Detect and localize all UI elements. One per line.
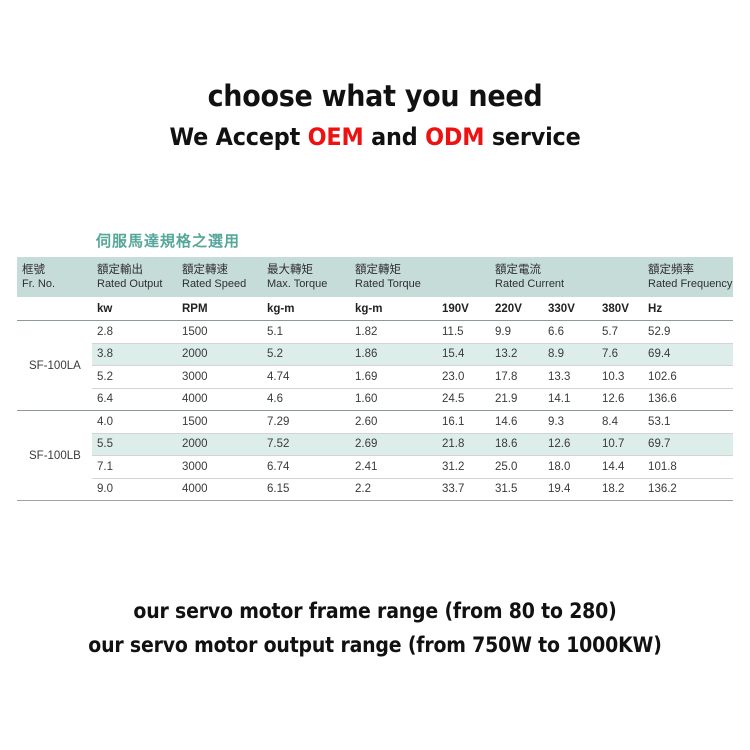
cell-rated-torque: 2.2 <box>350 478 437 501</box>
headline-accept-text: We Accept <box>169 123 307 151</box>
column-header-en: Rated Speed <box>182 277 262 292</box>
cell-current-220v: 17.8 <box>490 366 543 389</box>
cell-rated-output: 3.8 <box>92 343 177 366</box>
cell-current-380v: 10.3 <box>597 366 643 389</box>
cell-current-380v: 18.2 <box>597 478 643 501</box>
cell-current-190v: 31.2 <box>437 456 490 479</box>
cell-rated-torque: 2.69 <box>350 433 437 456</box>
footer-block: our servo motor frame range (from 80 to … <box>0 594 750 662</box>
column-header-1: 框號Fr. No. <box>17 257 92 297</box>
cell-rated-torque: 1.82 <box>350 321 437 344</box>
column-header-cn: 額定電流 <box>495 262 643 278</box>
headline-oem: OEM <box>308 123 364 151</box>
cell-current-220v: 25.0 <box>490 456 543 479</box>
cell-frequency: 136.6 <box>643 388 733 411</box>
cell-current-330v: 9.3 <box>543 411 597 434</box>
unit-rated-output: kw <box>92 297 177 321</box>
cell-current-330v: 19.4 <box>543 478 597 501</box>
cell-current-330v: 6.6 <box>543 321 597 344</box>
cell-frequency: 52.9 <box>643 321 733 344</box>
table-row: 6.440004.61.6024.521.914.112.6136.6 <box>17 388 733 411</box>
cell-rated-output: 7.1 <box>92 456 177 479</box>
column-header-en: Rated Frequency <box>648 277 733 292</box>
cell-rated-output: 2.8 <box>92 321 177 344</box>
cell-rated-speed: 1500 <box>177 411 262 434</box>
column-header-cn: 額定頻率 <box>648 262 733 278</box>
column-header-cn: 額定轉速 <box>182 262 262 278</box>
cell-current-220v: 9.9 <box>490 321 543 344</box>
cell-frequency: 69.4 <box>643 343 733 366</box>
cell-frequency: 136.2 <box>643 478 733 501</box>
cell-current-190v: 16.1 <box>437 411 490 434</box>
column-header-en: Rated Torque <box>355 277 490 292</box>
cell-current-220v: 13.2 <box>490 343 543 366</box>
footer-output-range: our servo motor output range (from 750W … <box>38 628 713 662</box>
column-header-4: 最大轉矩Max. Torque <box>262 257 350 297</box>
cell-current-190v: 24.5 <box>437 388 490 411</box>
unit-current-330v: 330V <box>543 297 597 321</box>
unit-rated-speed: RPM <box>177 297 262 321</box>
cell-rated-torque: 1.60 <box>350 388 437 411</box>
column-header-en: Max. Torque <box>267 277 350 292</box>
cell-current-380v: 7.6 <box>597 343 643 366</box>
cell-current-380v: 8.4 <box>597 411 643 434</box>
cell-max-torque: 5.1 <box>262 321 350 344</box>
unit-rated-torque: kg-m <box>350 297 437 321</box>
cell-current-380v: 12.6 <box>597 388 643 411</box>
cell-frequency: 53.1 <box>643 411 733 434</box>
spec-table-title: 伺服馬達規格之選用 <box>96 230 240 251</box>
cell-max-torque: 7.52 <box>262 433 350 456</box>
spec-table-container: 框號Fr. No.額定輸出Rated Output額定轉速Rated Speed… <box>17 257 733 501</box>
cell-frame-number: SF-100LA <box>17 321 92 411</box>
cell-rated-output: 6.4 <box>92 388 177 411</box>
cell-rated-output: 5.2 <box>92 366 177 389</box>
column-header-2: 額定輸出Rated Output <box>92 257 177 297</box>
column-header-cn: 框號 <box>22 262 92 278</box>
cell-rated-speed: 4000 <box>177 478 262 501</box>
cell-current-380v: 10.7 <box>597 433 643 456</box>
footer-frame-range: our servo motor frame range (from 80 to … <box>38 594 713 628</box>
table-row: 5.520007.522.6921.818.612.610.769.7 <box>17 433 733 456</box>
cell-rated-torque: 2.60 <box>350 411 437 434</box>
cell-current-220v: 14.6 <box>490 411 543 434</box>
headline-primary: choose what you need <box>26 78 724 114</box>
cell-max-torque: 5.2 <box>262 343 350 366</box>
cell-current-330v: 8.9 <box>543 343 597 366</box>
cell-current-190v: 15.4 <box>437 343 490 366</box>
unit-current-190v: 190V <box>437 297 490 321</box>
table-row: SF-100LB4.015007.292.6016.114.69.38.453.… <box>17 411 733 434</box>
column-header-cn: 最大轉矩 <box>267 262 350 278</box>
cell-rated-speed: 2000 <box>177 343 262 366</box>
cell-current-190v: 11.5 <box>437 321 490 344</box>
cell-rated-speed: 1500 <box>177 321 262 344</box>
headline-service-text: service <box>484 123 580 151</box>
cell-rated-speed: 2000 <box>177 433 262 456</box>
cell-frequency: 69.7 <box>643 433 733 456</box>
cell-current-380v: 5.7 <box>597 321 643 344</box>
cell-rated-speed: 4000 <box>177 388 262 411</box>
table-row: 5.230004.741.6923.017.813.310.3102.6 <box>17 366 733 389</box>
column-header-en: Fr. No. <box>22 277 92 292</box>
cell-current-190v: 23.0 <box>437 366 490 389</box>
cell-current-330v: 12.6 <box>543 433 597 456</box>
column-header-en: Rated Output <box>97 277 177 292</box>
cell-max-torque: 6.15 <box>262 478 350 501</box>
unit-current-220v: 220V <box>490 297 543 321</box>
table-header-row: 框號Fr. No.額定輸出Rated Output額定轉速Rated Speed… <box>17 257 733 297</box>
cell-rated-torque: 1.86 <box>350 343 437 366</box>
headline-block: choose what you need We Accept OEM and O… <box>0 78 750 153</box>
cell-rated-torque: 2.41 <box>350 456 437 479</box>
cell-frequency: 101.8 <box>643 456 733 479</box>
cell-max-torque: 7.29 <box>262 411 350 434</box>
watermark <box>695 22 735 44</box>
unit-current-380v: 380V <box>597 297 643 321</box>
headline-odm: ODM <box>425 123 484 151</box>
cell-rated-output: 9.0 <box>92 478 177 501</box>
unit-frequency: Hz <box>643 297 733 321</box>
cell-current-380v: 14.4 <box>597 456 643 479</box>
table-row: 7.130006.742.4131.225.018.014.4101.8 <box>17 456 733 479</box>
cell-current-220v: 18.6 <box>490 433 543 456</box>
cell-rated-torque: 1.69 <box>350 366 437 389</box>
cell-current-190v: 33.7 <box>437 478 490 501</box>
table-row: 9.040006.152.233.731.519.418.2136.2 <box>17 478 733 501</box>
headline-and-text: and <box>364 123 426 151</box>
cell-current-220v: 21.9 <box>490 388 543 411</box>
table-row: 3.820005.21.8615.413.28.97.669.4 <box>17 343 733 366</box>
table-row: SF-100LA2.815005.11.8211.59.96.65.752.9 <box>17 321 733 344</box>
column-header-cn: 額定輸出 <box>97 262 177 278</box>
column-header-5: 額定轉矩Rated Torque <box>350 257 490 297</box>
cell-current-330v: 14.1 <box>543 388 597 411</box>
cell-max-torque: 6.74 <box>262 456 350 479</box>
cell-max-torque: 4.6 <box>262 388 350 411</box>
cell-rated-output: 5.5 <box>92 433 177 456</box>
cell-current-190v: 21.8 <box>437 433 490 456</box>
column-header-6: 額定電流Rated Current <box>490 257 643 297</box>
cell-current-330v: 13.3 <box>543 366 597 389</box>
column-header-7: 額定頻率Rated Frequency <box>643 257 733 297</box>
cell-max-torque: 4.74 <box>262 366 350 389</box>
cell-current-330v: 18.0 <box>543 456 597 479</box>
table-units-row: kwRPMkg-mkg-m190V220V330V380VHz <box>17 297 733 321</box>
cell-rated-speed: 3000 <box>177 456 262 479</box>
cell-frequency: 102.6 <box>643 366 733 389</box>
unit-frame <box>17 297 92 321</box>
cell-frame-number: SF-100LB <box>17 411 92 501</box>
product-spec-page: choose what you need We Accept OEM and O… <box>0 0 750 750</box>
cell-rated-speed: 3000 <box>177 366 262 389</box>
cell-rated-output: 4.0 <box>92 411 177 434</box>
column-header-en: Rated Current <box>495 277 643 292</box>
column-header-cn: 額定轉矩 <box>355 262 490 278</box>
headline-secondary: We Accept OEM and ODM service <box>26 121 724 153</box>
cell-current-220v: 31.5 <box>490 478 543 501</box>
unit-max-torque: kg-m <box>262 297 350 321</box>
column-header-3: 額定轉速Rated Speed <box>177 257 262 297</box>
servo-motor-spec-table: 框號Fr. No.額定輸出Rated Output額定轉速Rated Speed… <box>17 257 733 501</box>
